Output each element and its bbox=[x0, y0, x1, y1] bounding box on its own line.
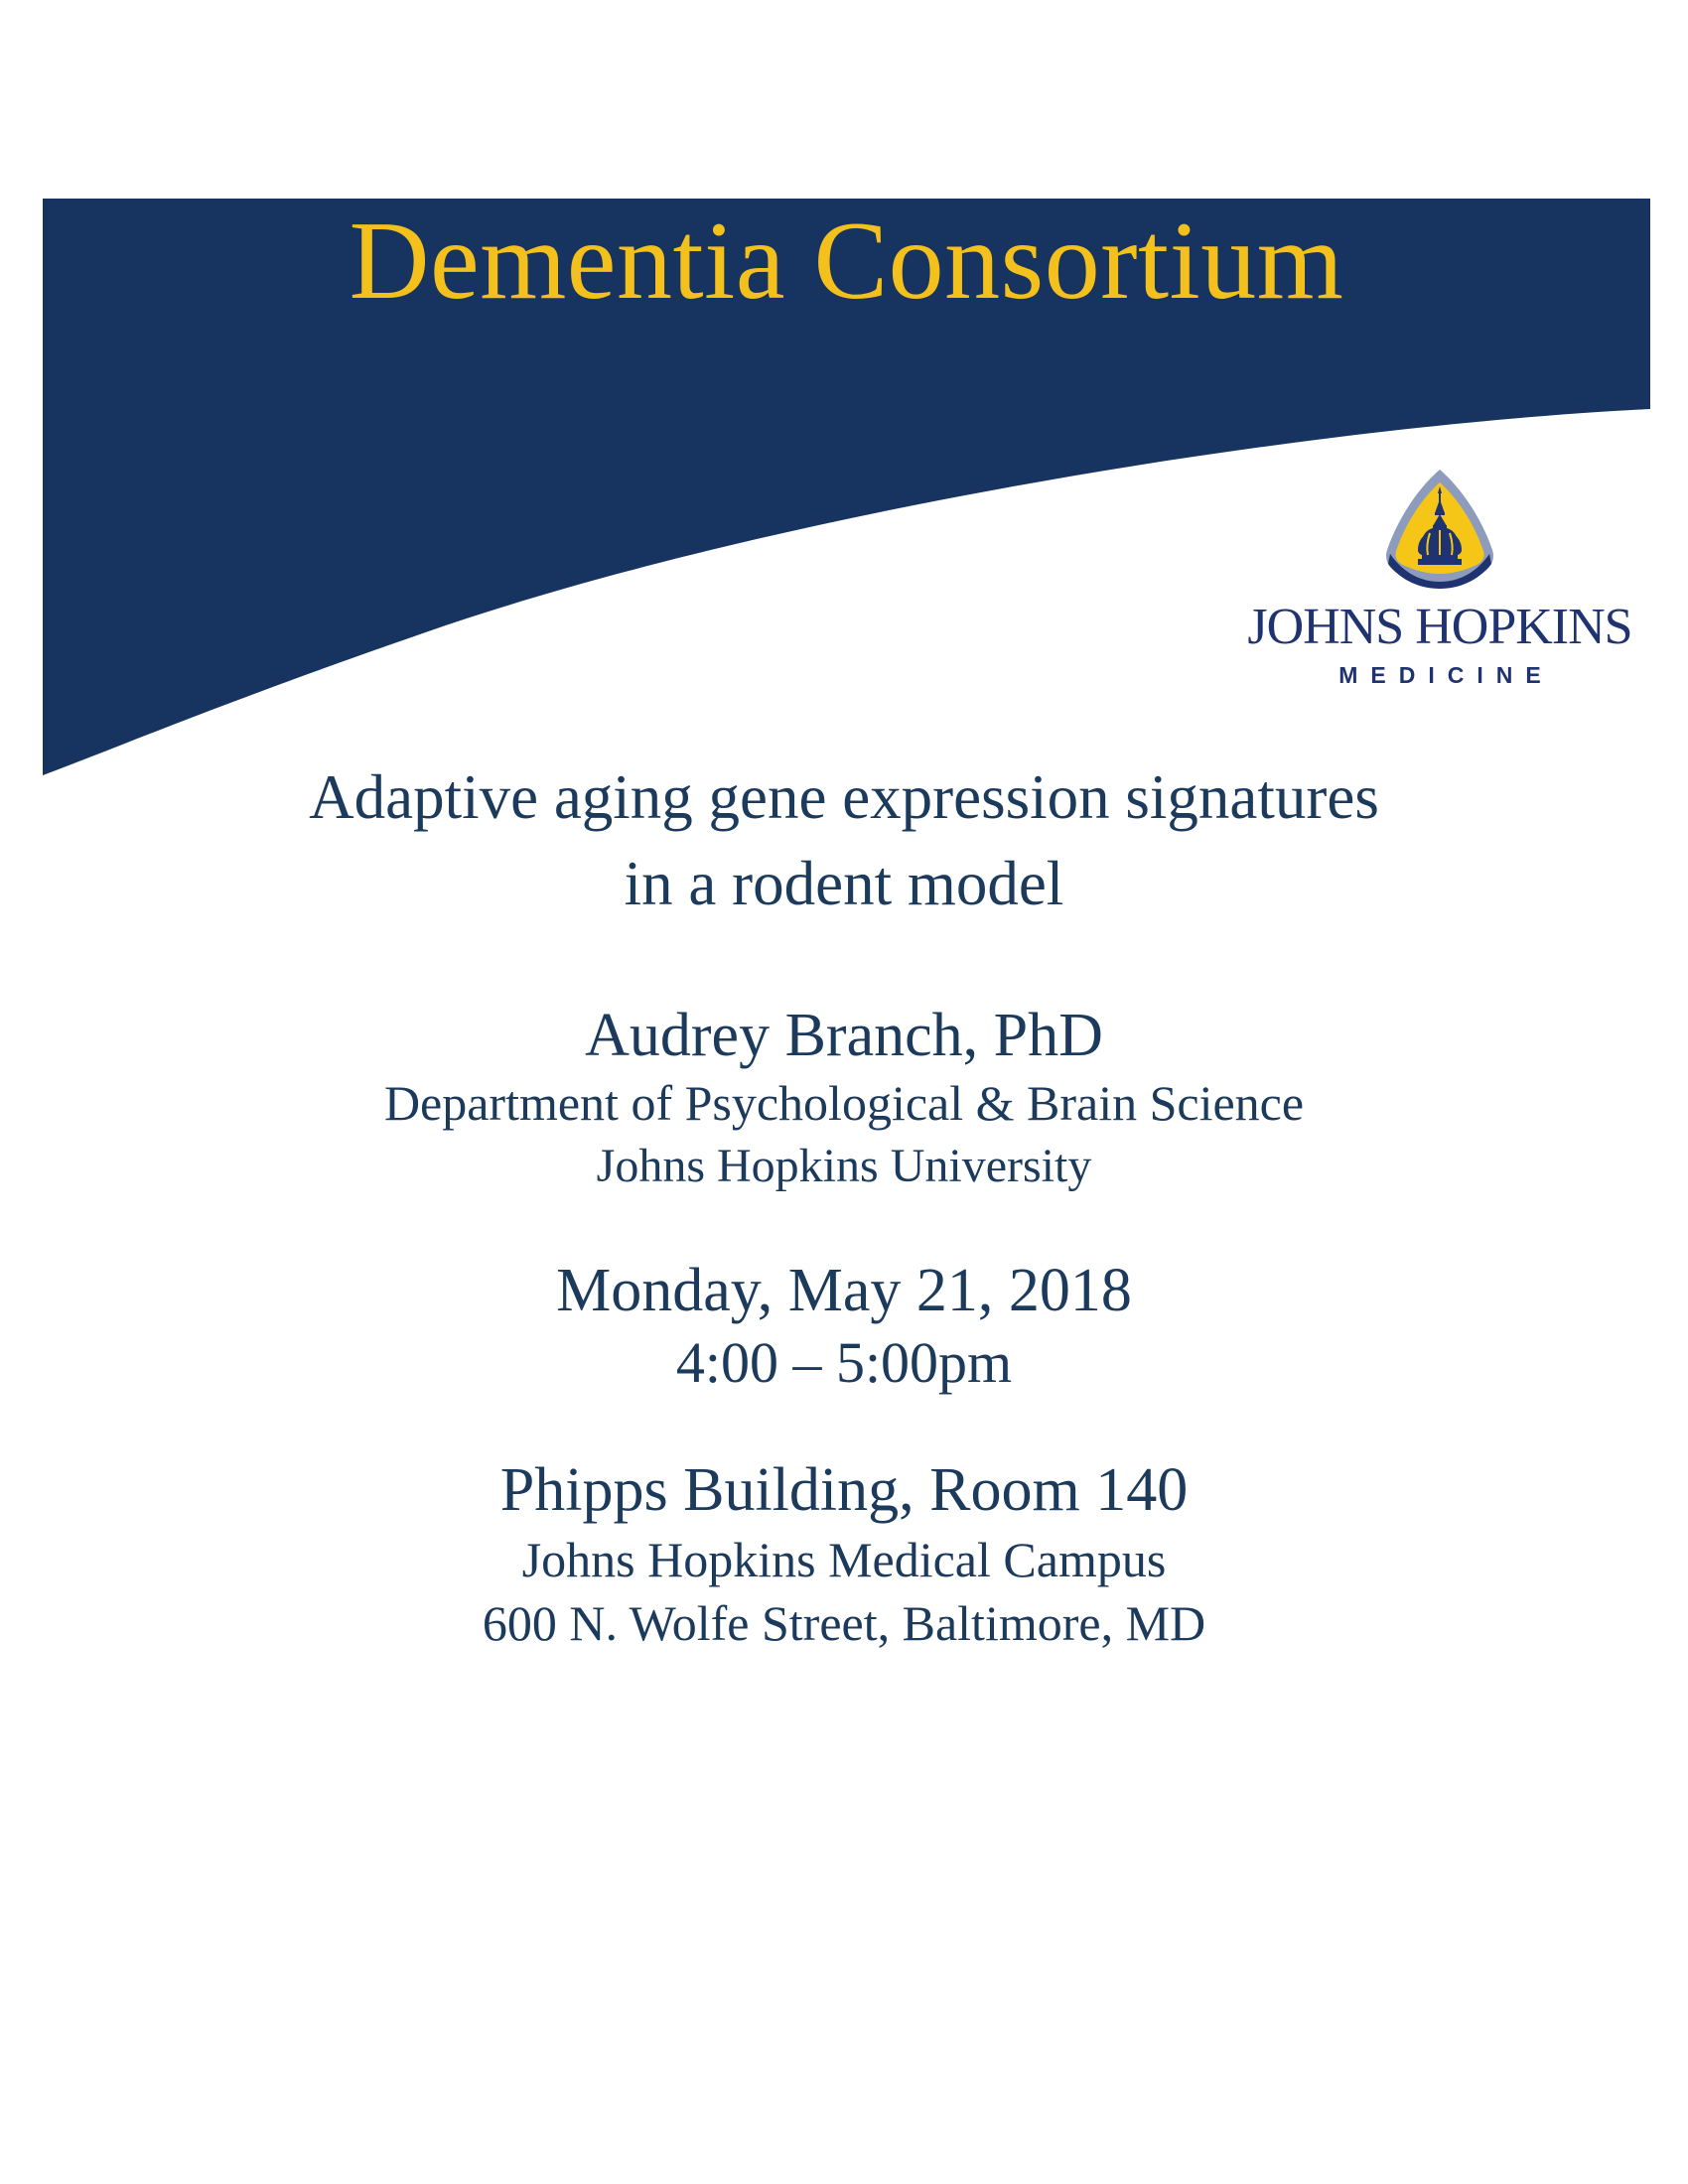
flyer-content: Adaptive aging gene expression signature… bbox=[0, 754, 1688, 1655]
speaker-institution: Johns Hopkins University bbox=[0, 1136, 1688, 1197]
talk-title-line-2: in a rodent model bbox=[0, 841, 1688, 927]
speaker-department: Department of Psychological & Brain Scie… bbox=[0, 1071, 1688, 1136]
talk-title: Adaptive aging gene expression signature… bbox=[0, 754, 1688, 927]
event-date: Monday, May 21, 2018 bbox=[0, 1254, 1688, 1327]
spacer bbox=[0, 1198, 1688, 1254]
venue-address: 600 N. Wolfe Street, Baltimore, MD bbox=[0, 1591, 1688, 1655]
banner-title: Dementia Consortium bbox=[43, 204, 1650, 321]
event-time: 4:00 – 5:00pm bbox=[0, 1327, 1688, 1400]
talk-title-line-1: Adaptive aging gene expression signature… bbox=[0, 754, 1688, 841]
logo-subword: MEDICINE bbox=[1231, 662, 1648, 689]
hopkins-shield-icon bbox=[1378, 467, 1501, 594]
venue-room: Phipps Building, Room 140 bbox=[0, 1454, 1688, 1527]
schedule-block: Monday, May 21, 2018 4:00 – 5:00pm bbox=[0, 1254, 1688, 1400]
spacer bbox=[0, 1399, 1688, 1454]
logo-wordmark: JOHNS HOPKINS bbox=[1231, 602, 1648, 653]
speaker-name: Audrey Branch, PhD bbox=[0, 1001, 1688, 1071]
venue-block: Phipps Building, Room 140 Johns Hopkins … bbox=[0, 1454, 1688, 1654]
spacer bbox=[0, 927, 1688, 1001]
speaker-block: Audrey Branch, PhD Department of Psychol… bbox=[0, 1001, 1688, 1198]
venue-campus: Johns Hopkins Medical Campus bbox=[0, 1528, 1688, 1591]
johns-hopkins-medicine-logo: JOHNS HOPKINS MEDICINE bbox=[1231, 467, 1648, 695]
